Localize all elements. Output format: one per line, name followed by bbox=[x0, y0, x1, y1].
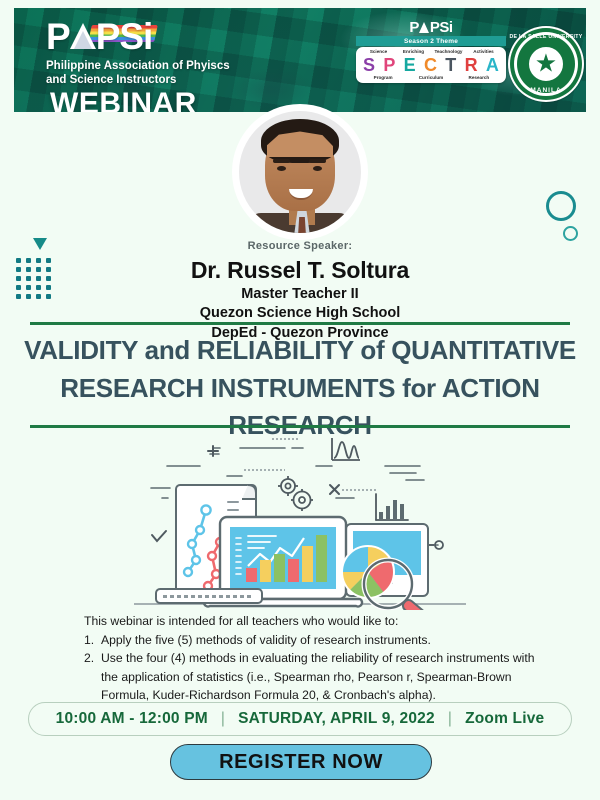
page-title: VALIDITY and RELIABILITY of QUANTITATIVE… bbox=[20, 332, 580, 445]
webinar-label: WEBINAR bbox=[50, 87, 197, 112]
speaker-school: Quezon Science High School bbox=[0, 304, 600, 323]
illustration-svg bbox=[120, 432, 480, 610]
prism-small-icon bbox=[419, 21, 430, 33]
list-item-number: 2. bbox=[84, 649, 101, 705]
objectives-list: 1. Apply the five (5) methods of validit… bbox=[84, 631, 536, 705]
seal-top-text: DE LA SALLE UNIVERSITY bbox=[508, 34, 584, 40]
list-item: 1. Apply the five (5) methods of validit… bbox=[84, 631, 536, 650]
title-line-1: VALIDITY and RELIABILITY of QUANTITATIVE bbox=[20, 332, 580, 370]
spectra-brand: PPSi bbox=[356, 20, 506, 35]
papsi-subtitle-line2: and Science Instructors bbox=[46, 73, 230, 87]
spectra-letter: A bbox=[486, 56, 499, 74]
spectra-top-label: Enriching bbox=[396, 50, 431, 55]
spectra-letter: T bbox=[445, 56, 456, 74]
list-item-text: Apply the five (5) methods of validity o… bbox=[101, 631, 536, 650]
webinar-poster: P PSi Philippine Association of Phyiscs … bbox=[0, 0, 600, 800]
schedule-platform: Zoom Live bbox=[465, 710, 544, 728]
spectra-letters: SPECTRA bbox=[361, 55, 501, 75]
avatar bbox=[232, 104, 368, 240]
divider-top bbox=[30, 322, 570, 325]
spectra-letter: C bbox=[424, 56, 437, 74]
schedule-time: 10:00 AM - 12:00 PM bbox=[56, 710, 208, 728]
speaker-info: Resource Speaker: Dr. Russel T. Soltura … bbox=[0, 240, 600, 343]
spectra-top-labels: Science Enriching Teachnology Activities bbox=[361, 50, 501, 55]
season-theme-bar: Season 2 Theme bbox=[356, 36, 506, 46]
data-analytics-illustration bbox=[120, 432, 480, 610]
spectra-letter: R bbox=[465, 56, 478, 74]
spectra-bottom-labels: Program Curriculum Research bbox=[361, 76, 501, 81]
prism-icon bbox=[70, 21, 96, 49]
spectra-bottom-label: Research bbox=[457, 76, 501, 81]
speaker-role: Master Teacher II bbox=[0, 285, 600, 304]
papsi-logo: P PSi Philippine Association of Phyiscs … bbox=[46, 18, 230, 88]
seal-bottom-text: MANILA bbox=[508, 87, 584, 94]
spectra-letter: S bbox=[363, 56, 375, 74]
divider-bottom bbox=[30, 425, 570, 428]
speaker-photo bbox=[239, 111, 361, 233]
spectra-letter: E bbox=[404, 56, 416, 74]
speaker-name: Dr. Russel T. Soltura bbox=[0, 257, 600, 284]
schedule-date: SATURDAY, APRIL 9, 2022 bbox=[238, 710, 435, 728]
spectra-letter: P bbox=[383, 56, 395, 74]
star-icon: ★ bbox=[533, 50, 559, 76]
circle-large-decoration-icon bbox=[546, 191, 576, 221]
header-banner: P PSi Philippine Association of Phyiscs … bbox=[14, 8, 586, 112]
resource-speaker-label: Resource Speaker: bbox=[0, 240, 600, 252]
papsi-wordmark: P PSi bbox=[46, 18, 230, 55]
spectra-top-label: Activities bbox=[466, 50, 501, 55]
register-button[interactable]: REGISTER NOW bbox=[170, 744, 432, 780]
schedule-separator: | bbox=[448, 710, 452, 728]
circle-small-decoration-icon bbox=[563, 226, 578, 241]
list-item-text: Use the four (4) methods in evaluating t… bbox=[101, 649, 536, 705]
spectra-badge: PPSi Season 2 Theme Science Enriching Te… bbox=[356, 20, 506, 83]
dlsu-seal-icon: DE LA SALLE UNIVERSITY MANILA ★ bbox=[508, 26, 584, 102]
schedule-separator: | bbox=[221, 710, 225, 728]
spectra-top-label: Science bbox=[361, 50, 396, 55]
spectra-top-label: Teachnology bbox=[431, 50, 466, 55]
papsi-subtitle-line1: Philippine Association of Phyiscs bbox=[46, 59, 230, 73]
spectra-bottom-label: Program bbox=[361, 76, 405, 81]
description-intro: This webinar is intended for all teacher… bbox=[84, 612, 536, 631]
spectra-bottom-label: Curriculum bbox=[405, 76, 457, 81]
list-item-number: 1. bbox=[84, 631, 101, 650]
papsi-subtitle: Philippine Association of Phyiscs and Sc… bbox=[46, 59, 230, 88]
webinar-description: This webinar is intended for all teacher… bbox=[84, 612, 536, 705]
schedule-bar: 10:00 AM - 12:00 PM | SATURDAY, APRIL 9,… bbox=[28, 702, 572, 736]
spectra-card: Science Enriching Teachnology Activities… bbox=[356, 47, 506, 83]
list-item: 2. Use the four (4) methods in evaluatin… bbox=[84, 649, 536, 705]
